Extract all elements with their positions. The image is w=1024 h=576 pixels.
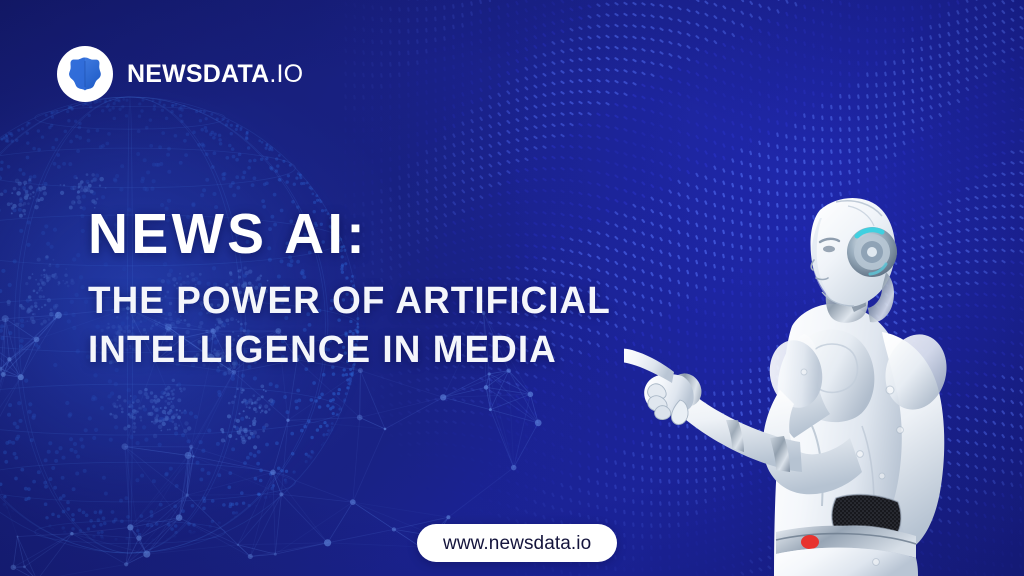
brand-logo-text: NEWSDATA.IO [127, 62, 303, 87]
website-url-pill[interactable]: www.newsdata.io [417, 524, 617, 562]
banner-root: NEWSDATA.IO NEWS AI: THE POWER OF ARTIFI… [0, 0, 1024, 576]
headline-subtitle: THE POWER OF ARTIFICIAL INTELLIGENCE IN … [88, 277, 670, 375]
brand-name-suffix: .IO [269, 60, 303, 88]
headline-sub-line-2: INTELLIGENCE IN MEDIA [88, 326, 670, 375]
website-url-label: www.newsdata.io [443, 534, 591, 553]
headline-main: NEWS AI: [88, 206, 670, 263]
headline-block: NEWS AI: THE POWER OF ARTIFICIAL INTELLI… [88, 206, 688, 375]
shield-icon [57, 46, 113, 102]
headline-sub-line-1: THE POWER OF ARTIFICIAL [88, 277, 670, 326]
brand-logo[interactable]: NEWSDATA.IO [57, 46, 303, 102]
brand-name-bold: NEWSDATA [127, 60, 269, 88]
